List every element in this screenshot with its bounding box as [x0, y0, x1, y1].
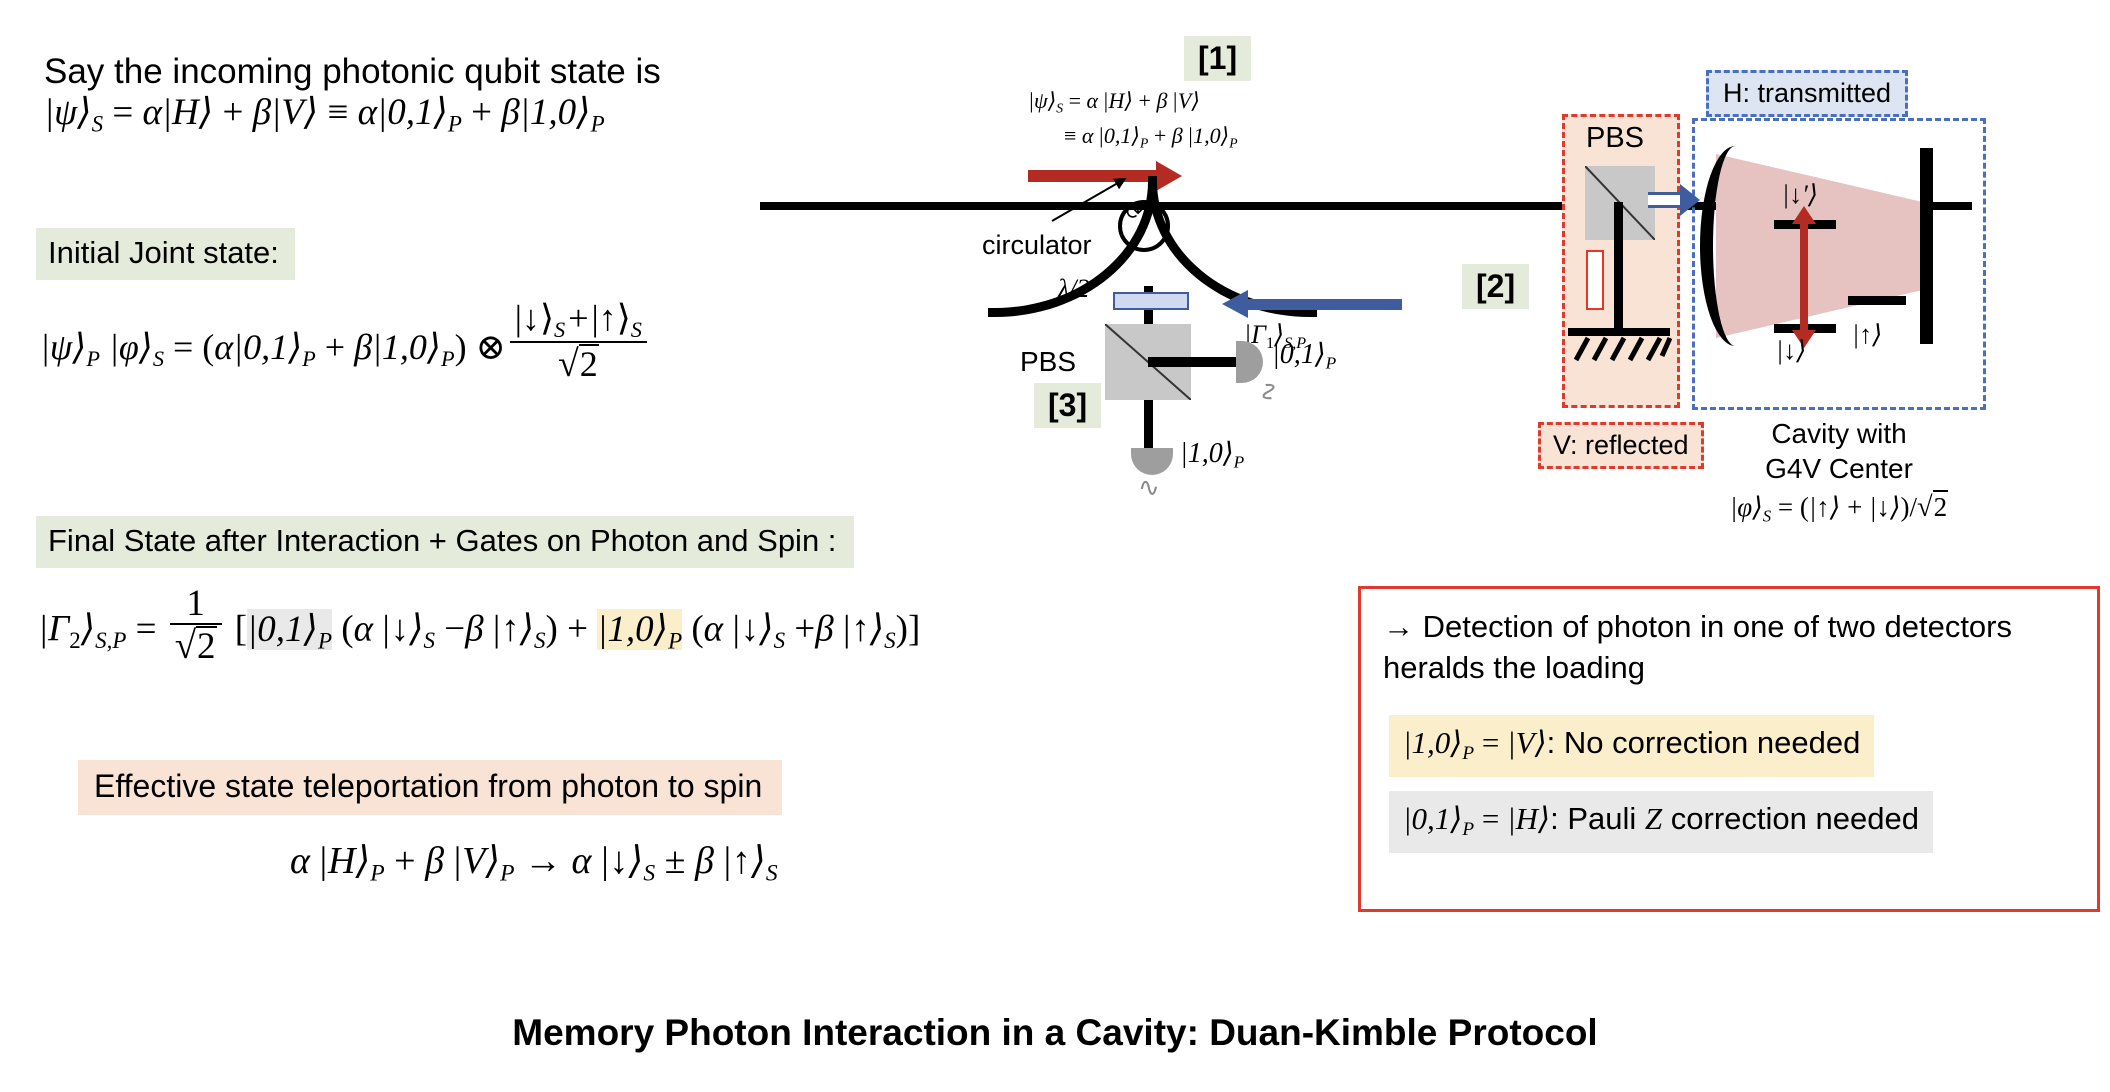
level-label-up: |↑⟩: [1852, 320, 1882, 350]
step-tag-2: [2]: [1462, 264, 1529, 309]
initial-joint-state-label: Initial Joint state:: [36, 228, 295, 280]
returning-photon-arrow: [1248, 299, 1402, 310]
heralding-row-v: |1,0⟩P = |V⟩: No correction needed: [1389, 715, 1874, 777]
circulator-label: circulator: [982, 230, 1092, 261]
final-state-equation: |Γ2⟩S,P = 1√2 [|0,1⟩P (α |↓⟩S −β |↑⟩S) +…: [38, 585, 920, 667]
detection-pbs-label: PBS: [1020, 346, 1076, 378]
page-title: Memory Photon Interaction in a Cavity: D…: [0, 1012, 2110, 1054]
level-label-excited: |↓′⟩: [1782, 180, 1818, 210]
step-tag-1: [1]: [1184, 36, 1251, 81]
intro-equation: |ψ⟩S = α|H⟩ + β|V⟩ ≡ α|0,1⟩P + β|1,0⟩P: [44, 90, 605, 137]
cavity-curved-mirror: [1700, 146, 1771, 346]
final-state-label: Final State after Interaction + Gates on…: [36, 516, 854, 568]
heralding-heading: → Detection of photon in one of two dete…: [1383, 607, 2043, 689]
input-state-annotation: |ψ⟩S = α |H⟩ + β |V⟩ ≡ α |0,1⟩P + β |1,0…: [1028, 84, 1238, 154]
detector-b-cable-icon: ∿: [1138, 472, 1160, 503]
h-transmitted-label: H: transmitted: [1706, 70, 1908, 117]
cavity-caption-line2: G4V Center: [1765, 453, 1913, 484]
cavity-spin-state-equation: |φ⟩S = (|↑⟩ + |↓⟩)/√2: [1694, 490, 1984, 526]
heralding-row-h: |0,1⟩P = |H⟩: Pauli Z correction needed: [1389, 791, 1933, 853]
optical-transition-arrow: [1800, 222, 1808, 332]
teleportation-label: Effective state teleportation from photo…: [78, 760, 782, 815]
half-wave-plate: [1113, 292, 1189, 310]
cavity-flat-mirror: [1920, 148, 1933, 344]
detector-a-cable-icon: ∿: [1251, 377, 1287, 406]
step-tag-3: [3]: [1034, 383, 1101, 428]
transmitted-photon-arrow: [1648, 192, 1682, 208]
level-label-down: |↓⟩: [1776, 336, 1806, 366]
optical-setup-diagram: [1] |ψ⟩S = α |H⟩ + β |V⟩ ≡ α |0,1⟩P + β …: [1000, 24, 2100, 584]
detector-b-label: |1,0⟩P: [1180, 436, 1244, 473]
teleportation-equation: α |H⟩P + β |V⟩P → α |↓⟩S ± β |↑⟩S: [290, 838, 778, 888]
half-wave-plate-label: λ/2: [1058, 274, 1089, 304]
intro-line: Say the incoming photonic qubit state is: [44, 50, 661, 95]
cavity-caption-line1: Cavity with: [1771, 418, 1906, 449]
reflected-arrow-outline: [1586, 250, 1604, 310]
reflected-path-line: [1614, 202, 1623, 334]
cavity-pbs-label: PBS: [1586, 122, 1644, 155]
v-reflected-label: V: reflected: [1538, 422, 1704, 469]
beam-dump-hatching: [1566, 336, 1672, 362]
cavity-caption: Cavity with G4V Center: [1704, 416, 1974, 486]
detector-b-icon: [1131, 448, 1173, 475]
detector-a-label: |0,1⟩P: [1272, 337, 1336, 374]
energy-level-ground-up: [1848, 296, 1906, 305]
detector-a-path: [1148, 357, 1240, 367]
heralding-info-box: → Detection of photon in one of two dete…: [1358, 586, 2100, 912]
circulator-icon: ⟳: [1118, 200, 1170, 252]
initial-joint-state-equation: |ψ⟩P |φ⟩S = (α|0,1⟩P + β|1,0⟩P) ⊗|↓⟩S + …: [40, 300, 651, 385]
beam-dump-bar: [1568, 328, 1670, 336]
